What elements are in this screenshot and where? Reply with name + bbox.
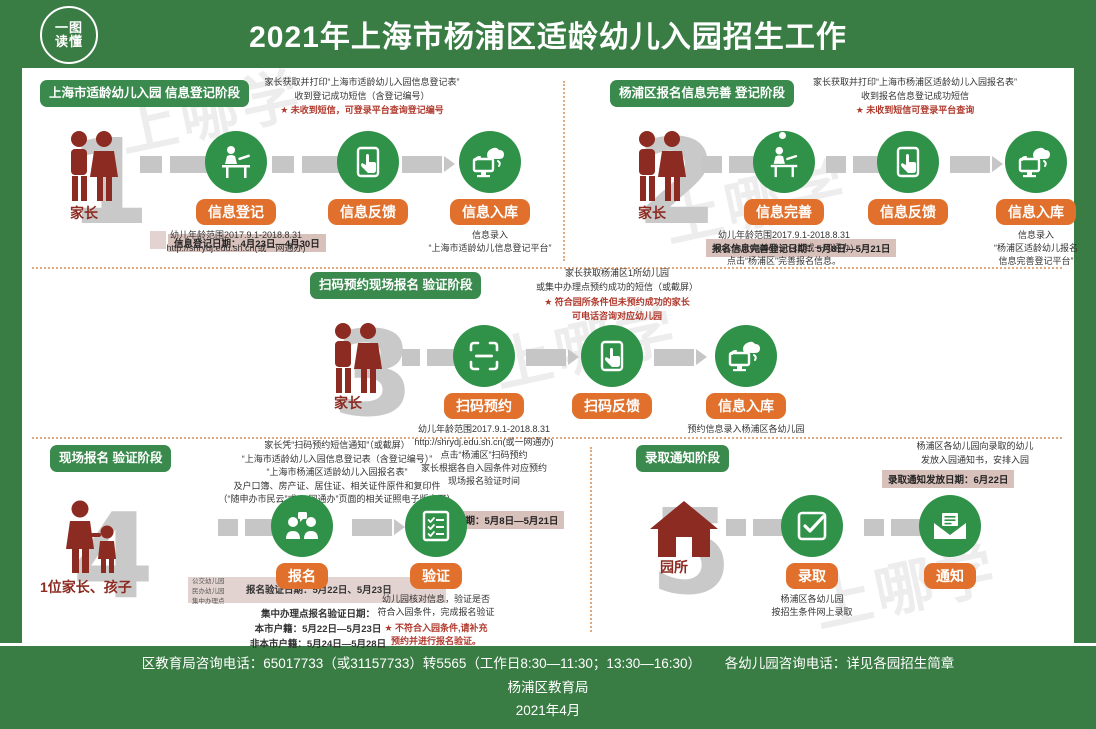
page-header: 一图 读懂 2021年上海市杨浦区适龄幼儿入园招生工作: [0, 0, 1096, 68]
stage-5-top-desc: 杨浦区各幼儿园向录取的幼儿 发放入园通知书，安排入园: [860, 440, 1090, 467]
stage-3: 扫码预约现场报名 验证阶段 3 家长 家长获取杨浦区1所幼儿园 或集中办理点预约…: [272, 267, 812, 437]
ok-badge-dot: [779, 132, 786, 139]
node-info-storage-2[interactable]: 信息入库 信息录入 “杨浦区适龄幼儿报名 信息完善登记平台”: [988, 131, 1084, 268]
stage-1-top-desc: 家长获取并打印“上海市适龄幼儿入园信息登记表” 收到登记成功短信（含登记编号）: [212, 76, 512, 103]
footer-line-2: 杨浦区教育局: [508, 676, 589, 700]
footer-line-1: 区教育局咨询电话：65017733（或31157733）转5565（工作日8:3…: [132, 652, 965, 676]
stage-1-top-star: ★ 未收到短信，可登录平台查询登记编号: [212, 104, 512, 118]
cloud-monitor-icon: [715, 325, 777, 387]
node-label: 信息入库: [996, 199, 1076, 225]
node-note: 杨浦区各幼儿园 按招生条件网上录取: [732, 593, 892, 619]
footer-line-3: 2021年4月: [516, 699, 581, 723]
stage-4-actor-label: 1位家长、孩子: [40, 577, 132, 597]
cloud-monitor-icon: [1005, 131, 1067, 193]
node-note: 幼儿年龄范围2017.9.1-2018.8.31 http://shrydj.e…: [151, 229, 321, 255]
cloud-monitor-icon: [459, 131, 521, 193]
node-verify[interactable]: 验证 幼儿园核对信息，验证是否 符合入园条件，完成报名验证 ★ 不符合入园条件,…: [400, 495, 472, 648]
node-info-feedback[interactable]: 信息反馈: [332, 131, 404, 225]
node-info-storage[interactable]: 信息入库 信息录入 “上海市适龄幼儿信息登记平台”: [440, 131, 540, 255]
node-label: 录取: [786, 563, 838, 589]
stage-1-tag: 上海市适龄幼儿入园 信息登记阶段: [40, 80, 249, 107]
checklist-icon: [405, 495, 467, 557]
page-title: 2021年上海市杨浦区适龄幼儿入园招生工作: [0, 0, 1096, 68]
phone-tap-icon: [337, 131, 399, 193]
ok-badge-text: OK: [746, 128, 765, 142]
node-info-complete[interactable]: OK 信息完善 幼儿年龄范围2017.9.1-2018.8.31 http://…: [748, 131, 820, 268]
node-note: 幼儿年龄范围2017.9.1-2018.8.31 http://shrydj.e…: [384, 423, 584, 488]
two-parents-icon: [628, 129, 692, 203]
node-label: 信息反馈: [868, 199, 948, 225]
node-label: 扫码预约: [444, 393, 524, 419]
node-label: 信息反馈: [328, 199, 408, 225]
stage-3-actor-label: 家长: [334, 393, 362, 413]
stage-4-tag: 现场报名 验证阶段: [50, 445, 171, 472]
district-phone-text: 区教育局咨询电话：65017733（或31157733）转5565（工作日8:3…: [142, 656, 701, 671]
node-note: 信息录入 “上海市适龄幼儿信息登记平台”: [415, 229, 565, 255]
two-parents-icon: [60, 129, 124, 203]
diagram-canvas: 上哪学 上哪学 上哪学 上哪学 上海市适龄幼儿入园 信息登记阶段 1: [22, 71, 1074, 646]
two-parents-icon: [324, 321, 388, 395]
node-label: 信息入库: [450, 199, 530, 225]
node-label: 通知: [924, 563, 976, 589]
node-info-register[interactable]: 信息登记 幼儿年龄范围2017.9.1-2018.8.31 http://shr…: [200, 131, 272, 255]
node-label: 信息入库: [706, 393, 786, 419]
node-star-note: ★ 不符合入园条件,请补充 预约并进行报名验证。: [351, 622, 521, 648]
person-at-desk-ok-icon: OK: [753, 131, 815, 193]
node-note: 幼儿园核对信息，验证是否 符合入园条件，完成报名验证: [351, 593, 521, 619]
stage-3-tag: 扫码预约现场报名 验证阶段: [310, 272, 481, 299]
stage-5-tag: 录取通知阶段: [636, 445, 729, 472]
stage-5-date: 录取通知发放日期：6月22日: [882, 470, 1014, 488]
stage-2-tag: 杨浦区报名信息完善 登记阶段: [610, 80, 794, 107]
node-label: 验证: [410, 563, 462, 589]
check-square-icon: [781, 495, 843, 557]
qr-scan-icon: [453, 325, 515, 387]
person-at-desk-icon: [205, 131, 267, 193]
node-label: 报名: [276, 563, 328, 589]
node-qr-book[interactable]: 扫码预约 幼儿年龄范围2017.9.1-2018.8.31 http://shr…: [448, 325, 520, 488]
stage-2-top-star: ★ 未收到短信可登录平台查询: [760, 104, 1070, 118]
left-green-rail: [0, 68, 22, 646]
stage-5-actor-label: 园所: [660, 557, 688, 577]
node-label: 扫码反馈: [572, 393, 652, 419]
stage-3-top-desc: 家长获取杨浦区1所幼儿园 或集中办理点预约成功的短信（或截屏）: [472, 267, 762, 294]
stage-2-actor-label: 家长: [638, 203, 666, 223]
node-note: 信息录入 “杨浦区适龄幼儿报名 信息完善登记平台”: [971, 229, 1096, 268]
kindergarten-phone-text: 各幼儿园咨询电话：详见各园招生简章: [725, 656, 955, 671]
stage-1: 上海市适龄幼儿入园 信息登记阶段 1 家长 家长获取并打印“上海市适龄幼儿入园信…: [22, 71, 563, 267]
node-note: 幼儿年龄范围2017.9.1-2018.8.31 http://shrydj.e…: [694, 229, 874, 268]
node-admission[interactable]: 录取 杨浦区各幼儿园 按招生条件网上录取: [776, 495, 848, 619]
phone-tap-icon: [581, 325, 643, 387]
stage-3-top-star: ★ 符合园所条件但未预约成功的家长 可电话咨询对应幼儿园: [472, 296, 762, 323]
stage-4-date-prefix: 公交幼儿园 民办幼儿园 集中办理点: [192, 577, 244, 606]
stage-2-top-desc: 家长获取并打印“上海市杨浦区适龄幼儿入园报名表” 收到报名信息登记成功短信: [760, 76, 1070, 103]
envelope-icon: [919, 495, 981, 557]
node-signup[interactable]: 报名: [266, 495, 338, 589]
phone-tap-icon: [877, 131, 939, 193]
node-label: 信息完善: [744, 199, 824, 225]
node-qr-feedback[interactable]: 扫码反馈: [572, 325, 652, 419]
house-icon: [648, 499, 720, 561]
node-notification[interactable]: 通知: [914, 495, 986, 589]
stage-5: 录取通知阶段 5 园所 杨浦区各幼儿园向录取的幼儿 发放入园通知书，安排入园 录…: [610, 437, 1074, 646]
node-label: 信息登记: [196, 199, 276, 225]
two-people-chat-icon: [271, 495, 333, 557]
stage-2: 杨浦区报名信息完善 登记阶段 2 家长 家长获取并打印“上海市杨浦区适龄幼儿入园…: [584, 71, 1074, 267]
page-footer: 区教育局咨询电话：65017733（或31157733）转5565（工作日8:3…: [0, 646, 1096, 729]
node-note: 预约信息录入杨浦区各幼儿园: [661, 423, 831, 436]
divider-vertical-2: [590, 447, 592, 632]
infographic-page: 一图 读懂 2021年上海市杨浦区适龄幼儿入园招生工作 上哪学 上哪学 上哪学 …: [0, 0, 1096, 729]
parent-and-child-icon: [58, 499, 128, 575]
node-qr-storage[interactable]: 信息入库 预约信息录入杨浦区各幼儿园: [696, 325, 796, 436]
node-info-feedback-2[interactable]: 信息反馈: [872, 131, 944, 225]
stage-1-actor-label: 家长: [70, 203, 98, 223]
